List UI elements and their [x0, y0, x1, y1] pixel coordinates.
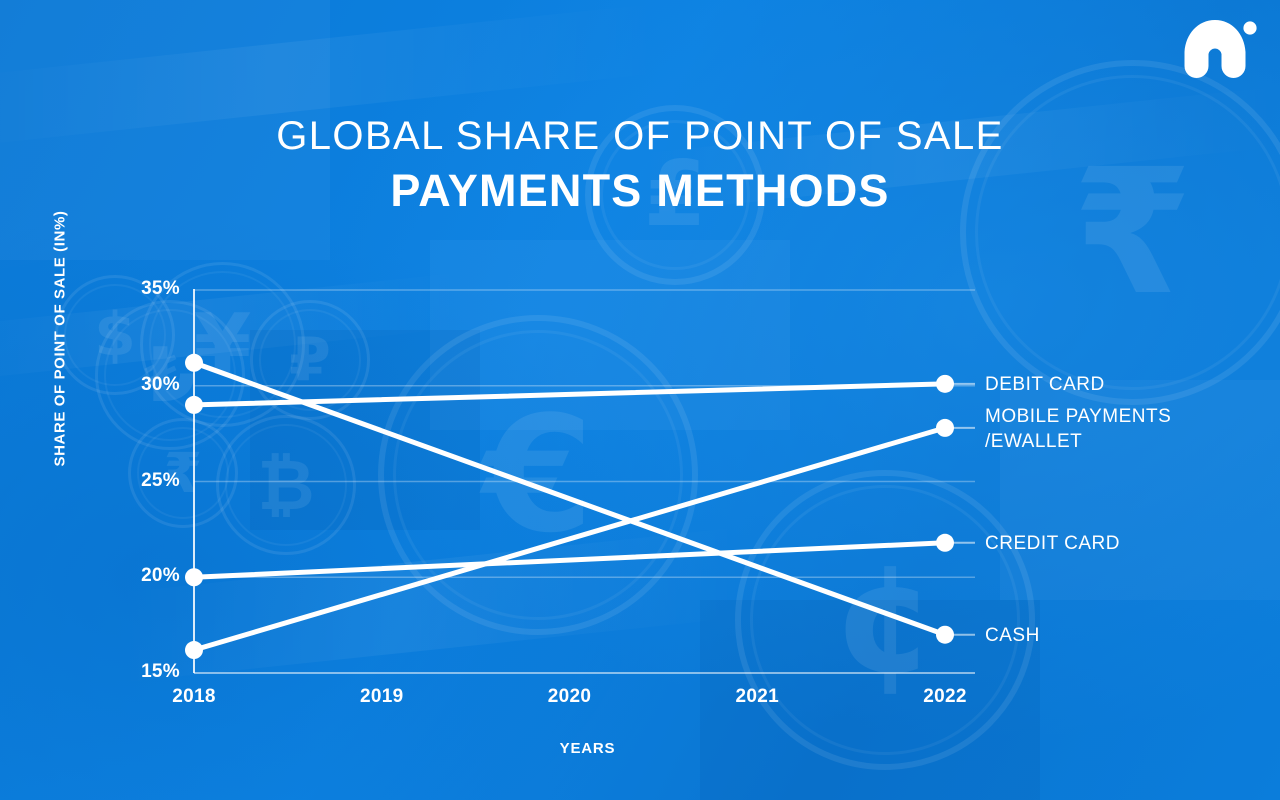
- data-point-credit-card-2018[interactable]: [185, 568, 203, 586]
- x-axis-label: YEARS: [0, 740, 1175, 757]
- data-point-mobile-payments-ewallet-2018[interactable]: [185, 641, 203, 659]
- series-line-mobile-payments-ewallet: [194, 428, 945, 650]
- infographic-canvas: $₺¥₽₹₿€₤₹¢ GLOBAL SHARE OF POINT OF SALE…: [0, 0, 1280, 800]
- x-tick-2021: 2021: [697, 686, 817, 708]
- y-tick-35%: 35%: [120, 278, 180, 300]
- y-tick-20%: 20%: [120, 565, 180, 587]
- y-tick-25%: 25%: [120, 470, 180, 492]
- series-line-credit-card: [194, 543, 945, 577]
- series-label-mobile-payments-ewallet: MOBILE PAYMENTS /EWALLET: [985, 404, 1171, 454]
- series-line-debit-card: [194, 384, 945, 405]
- y-tick-30%: 30%: [120, 374, 180, 396]
- y-tick-15%: 15%: [120, 661, 180, 683]
- series-label-credit-card: CREDIT CARD: [985, 531, 1120, 556]
- data-point-debit-card-2018[interactable]: [185, 396, 203, 414]
- line-chart: SHARE OF POINT OF SALE (IN%) 15%20%25%30…: [0, 0, 1280, 800]
- series-label-debit-card: DEBIT CARD: [985, 372, 1105, 397]
- data-point-cash-2018[interactable]: [185, 354, 203, 372]
- x-tick-2020: 2020: [510, 686, 630, 708]
- x-tick-2018: 2018: [134, 686, 254, 708]
- series-label-cash: CASH: [985, 623, 1040, 648]
- x-tick-2022: 2022: [885, 686, 1005, 708]
- plot-svg: [0, 0, 1280, 800]
- y-axis-label: SHARE OF POINT OF SALE (IN%): [52, 209, 69, 469]
- x-tick-2019: 2019: [322, 686, 442, 708]
